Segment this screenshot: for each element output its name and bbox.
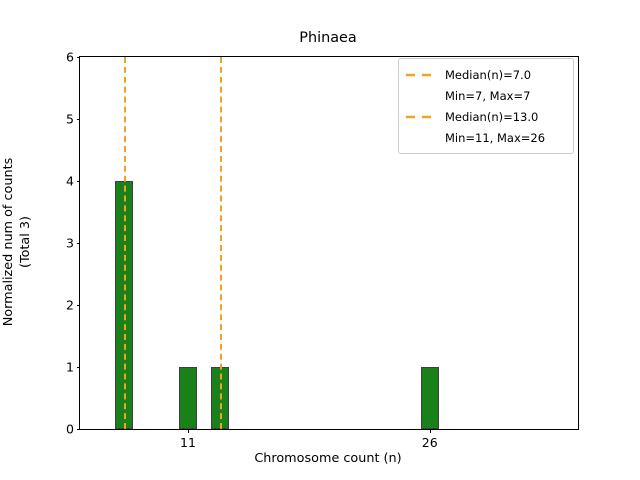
y-tick-mark	[77, 119, 81, 120]
y-tick-label: 5	[66, 112, 74, 127]
chart-legend: Median(n)=7.0Min=7, Max=7Median(n)=13.0M…	[398, 58, 574, 154]
x-tick-label: 11	[180, 435, 196, 450]
y-tick-label: 6	[66, 50, 74, 65]
median-vline	[220, 57, 222, 429]
y-tick-label: 2	[66, 298, 74, 313]
y-tick-mark	[77, 57, 81, 58]
median-vline	[124, 57, 126, 429]
y-tick-label: 4	[66, 174, 74, 189]
x-tick-label: 26	[422, 435, 438, 450]
y-axis-label-wrapper: Normalized num of counts (Total 3)	[0, 56, 40, 428]
y-tick-mark	[77, 243, 81, 244]
legend-entry: Median(n)=13.0	[405, 106, 567, 127]
matplotlib-figure: Phinaea 0123456 1126 Chromosome count (n…	[0, 0, 640, 480]
y-tick-label: 3	[66, 236, 74, 251]
legend-label: Min=11, Max=26	[445, 131, 545, 145]
y-tick-mark	[77, 305, 81, 306]
legend-entry: Median(n)=7.0	[405, 64, 567, 85]
dashed-line-icon	[405, 69, 437, 81]
y-tick-mark	[77, 429, 81, 430]
chart-title: Phinaea	[79, 30, 577, 47]
dashed-line-icon	[405, 111, 437, 123]
x-tick-mark	[430, 429, 431, 433]
y-tick-mark	[77, 367, 81, 368]
bar	[179, 367, 197, 429]
x-axis-label: Chromosome count (n)	[79, 451, 577, 466]
legend-label: Median(n)=7.0	[445, 68, 531, 82]
y-tick-label: 0	[66, 422, 74, 437]
legend-entry: Min=11, Max=26	[405, 127, 567, 148]
legend-label: Min=7, Max=7	[445, 89, 530, 103]
x-tick-mark	[188, 429, 189, 433]
bar	[421, 367, 439, 429]
legend-entry: Min=7, Max=7	[405, 85, 567, 106]
y-tick-mark	[77, 181, 81, 182]
legend-label: Median(n)=13.0	[445, 110, 538, 124]
y-tick-label: 1	[66, 360, 74, 375]
y-axis-label: Normalized num of counts (Total 3)	[0, 56, 34, 428]
